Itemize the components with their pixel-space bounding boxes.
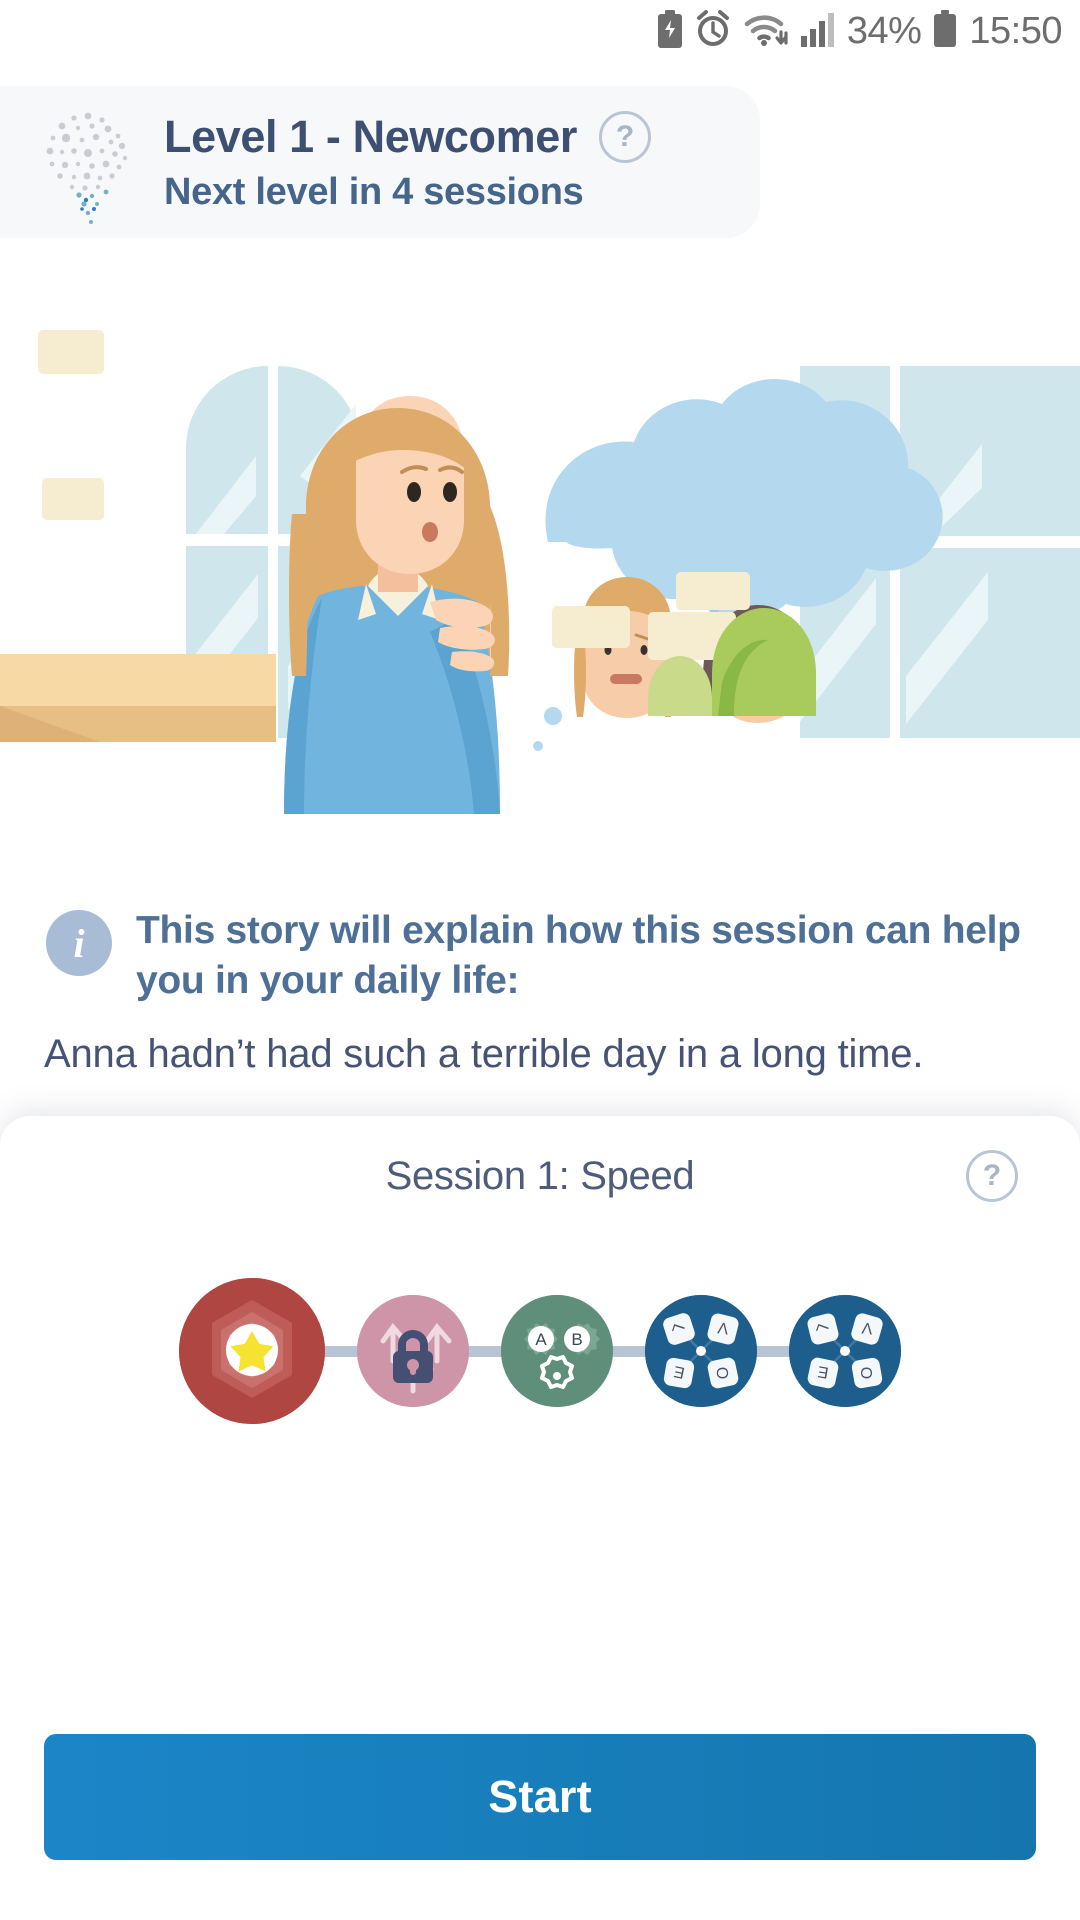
story-section: i This story will explain how this sessi… bbox=[0, 884, 1080, 1132]
session-help-icon[interactable]: ? bbox=[966, 1150, 1018, 1202]
exercise-node-tiles-2[interactable]: L V E O bbox=[789, 1295, 901, 1407]
battery-saver-icon bbox=[657, 10, 683, 53]
info-icon: i bbox=[46, 910, 112, 976]
signal-icon bbox=[801, 10, 835, 53]
session-title: Session 1: Speed bbox=[386, 1154, 695, 1199]
level-header-card[interactable]: Level 1 - Newcomer ? Next level in 4 ses… bbox=[0, 86, 760, 238]
exercise-node-gears[interactable]: A B bbox=[501, 1295, 613, 1407]
wifi-icon bbox=[743, 10, 789, 53]
tile-label-v: V bbox=[861, 1318, 874, 1336]
brain-dots-icon bbox=[22, 96, 154, 228]
woman-thinking-illustration bbox=[0, 246, 1080, 874]
track-connector bbox=[757, 1346, 789, 1357]
track-connector bbox=[325, 1346, 357, 1357]
level-title: Level 1 - Newcomer bbox=[164, 111, 577, 163]
gear-label-a: A bbox=[535, 1330, 547, 1349]
tile-label-o: O bbox=[713, 1367, 730, 1380]
level-title-row: Level 1 - Newcomer ? bbox=[164, 111, 651, 163]
gear-label-b: B bbox=[571, 1330, 582, 1349]
story-body: Anna hadn’t had such a terrible day in a… bbox=[0, 1006, 1080, 1132]
tile-label-o: O bbox=[857, 1367, 874, 1379]
session-sheet: Session 1: Speed ? bbox=[0, 1116, 1080, 1920]
exercise-node-locked[interactable] bbox=[357, 1295, 469, 1407]
exercise-node-row: A B bbox=[179, 1278, 901, 1424]
story-note: i This story will explain how this sessi… bbox=[0, 884, 1080, 1006]
start-button[interactable]: Start bbox=[44, 1734, 1036, 1860]
battery-icon bbox=[933, 10, 957, 53]
story-note-text: This story will explain how this session… bbox=[136, 906, 1040, 1006]
alarm-icon bbox=[695, 10, 731, 53]
session-sheet-header: Session 1: Speed ? bbox=[0, 1116, 1080, 1236]
story-paragraph: Anna hadn’t had such a terrible day in a… bbox=[44, 1028, 1038, 1080]
exercise-node-tiles-1[interactable]: L V E O bbox=[645, 1295, 757, 1407]
status-bar: 34% 15:50 bbox=[0, 0, 1080, 62]
level-texts: Level 1 - Newcomer ? Next level in 4 ses… bbox=[164, 111, 651, 214]
exercise-node-active[interactable] bbox=[179, 1278, 325, 1424]
level-subtitle: Next level in 4 sessions bbox=[164, 171, 651, 214]
battery-percent-label: 34% bbox=[847, 12, 922, 50]
track-connector bbox=[613, 1346, 645, 1357]
clock-label: 15:50 bbox=[969, 12, 1062, 50]
exercise-track: A B bbox=[0, 1236, 1080, 1466]
level-help-icon[interactable]: ? bbox=[599, 111, 651, 163]
app-root: 34% 15:50 bbox=[0, 0, 1080, 1920]
track-connector bbox=[469, 1346, 501, 1357]
